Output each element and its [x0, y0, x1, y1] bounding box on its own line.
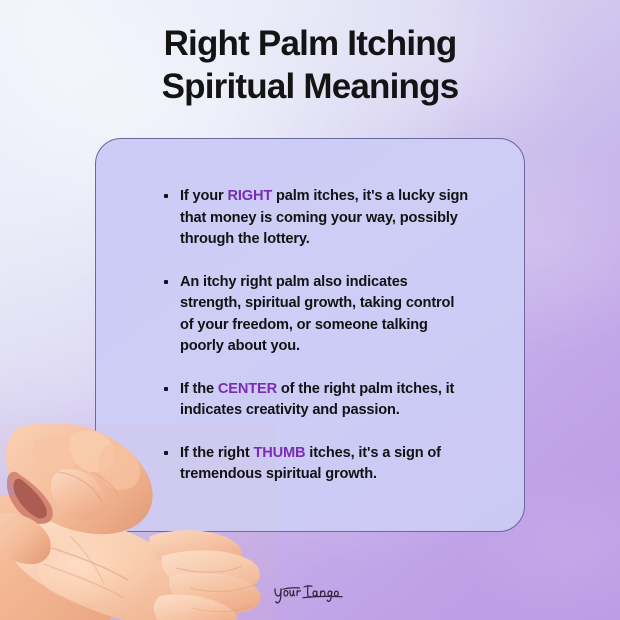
title-line-1: Right Palm Itching	[0, 22, 620, 65]
list-item: If your RIGHT palm itches, it's a lucky …	[160, 186, 470, 251]
page-title: Right Palm Itching Spiritual Meanings	[0, 22, 620, 108]
bullet-text: If your	[180, 188, 227, 204]
title-line-2: Spiritual Meanings	[0, 65, 620, 108]
bullet-text: An itchy right palm also indicates stren…	[180, 274, 454, 355]
bullet-list: If your RIGHT palm itches, it's a lucky …	[160, 186, 470, 486]
highlighted-keyword: CENTER	[218, 381, 277, 397]
highlighted-keyword: RIGHT	[227, 188, 272, 204]
list-item: If the right THUMB itches, it's a sign o…	[160, 443, 470, 486]
list-item: An itchy right palm also indicates stren…	[160, 272, 470, 358]
bullet-text: If the right	[180, 445, 253, 461]
list-item: If the CENTER of the right palm itches, …	[160, 379, 470, 422]
bullet-text: If the	[180, 381, 218, 397]
poster-canvas: Right Palm Itching Spiritual Meanings If…	[0, 0, 620, 620]
highlighted-keyword: THUMB	[253, 445, 305, 461]
yourtango-logo[interactable]	[272, 580, 348, 606]
